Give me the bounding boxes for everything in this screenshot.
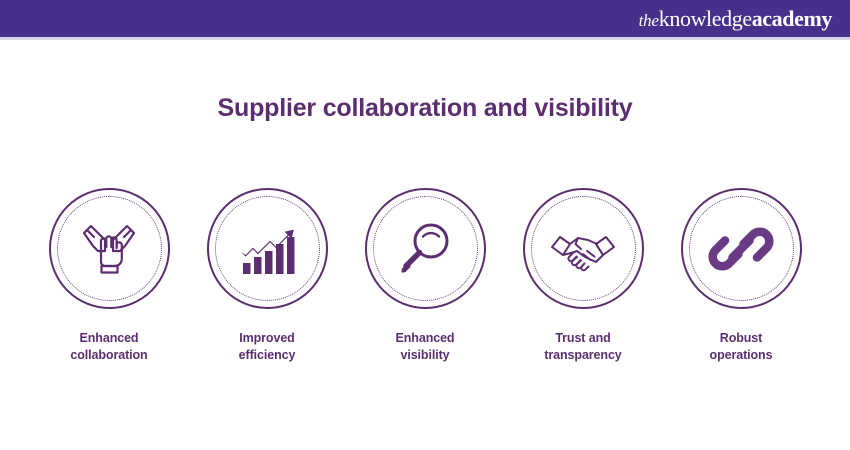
benefit-item-improved-efficiency[interactable]: Improved efficiency	[207, 188, 328, 365]
handshake-icon	[547, 213, 619, 285]
brand-word-academy: academy	[752, 6, 832, 31]
chain-link-icon	[705, 213, 777, 285]
icon-badge	[49, 188, 170, 309]
benefit-item-trust-and-transparency[interactable]: Trust and transparency	[523, 188, 644, 365]
benefit-label: Robust operations	[710, 330, 773, 365]
benefit-label: Enhanced visibility	[396, 330, 455, 365]
brand-word-knowledge: knowledge	[659, 6, 752, 31]
brand-prefix: the	[639, 11, 659, 30]
benefit-item-enhanced-collaboration[interactable]: Enhanced collaboration	[49, 188, 170, 365]
benefit-label: Enhanced collaboration	[70, 330, 147, 365]
benefit-label: Improved efficiency	[239, 330, 296, 365]
icon-badge	[207, 188, 328, 309]
icon-badge	[523, 188, 644, 309]
header-bar: theknowledgeacademy	[0, 0, 850, 37]
brand-logo[interactable]: theknowledgeacademy	[639, 8, 832, 30]
benefit-item-robust-operations[interactable]: Robust operations	[681, 188, 802, 365]
benefits-row: Enhanced collaboration Improved efficien…	[0, 188, 850, 365]
magnifying-glass-icon	[389, 213, 461, 285]
icon-badge	[681, 188, 802, 309]
benefit-label: Trust and transparency	[544, 330, 621, 365]
icon-badge	[365, 188, 486, 309]
three-hands-together-icon	[73, 213, 145, 285]
header-divider	[0, 37, 850, 40]
bar-chart-growth-arrow-icon	[231, 213, 303, 285]
benefit-item-enhanced-visibility[interactable]: Enhanced visibility	[365, 188, 486, 365]
page-title: Supplier collaboration and visibility	[0, 94, 850, 123]
